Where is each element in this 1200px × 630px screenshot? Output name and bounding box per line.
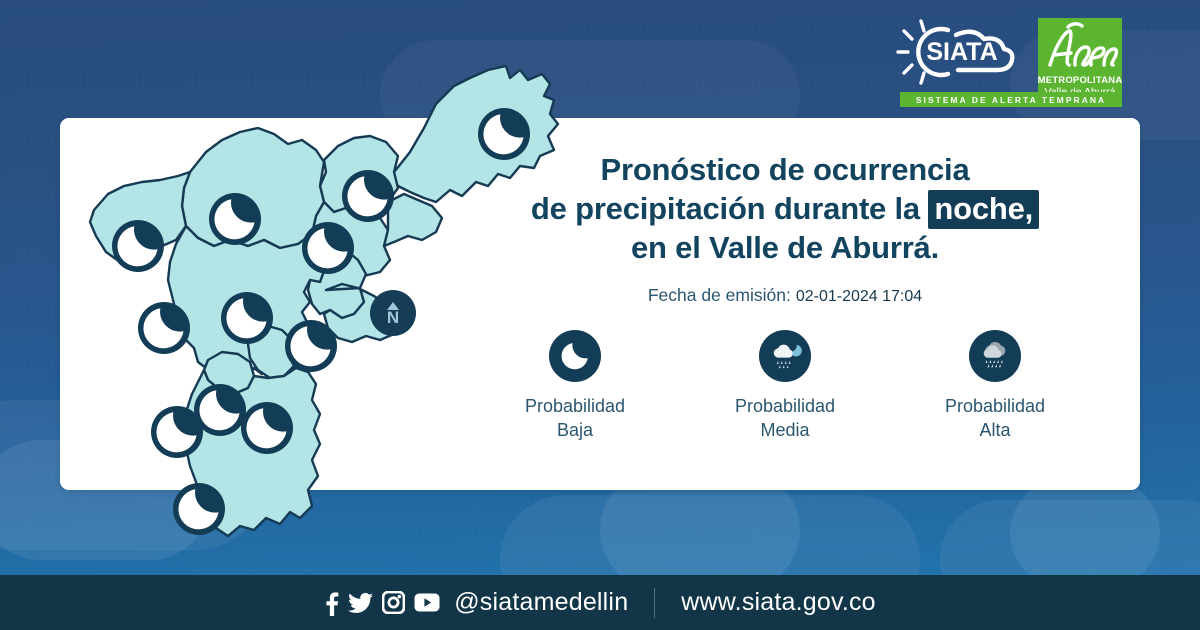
title-line-2-text: de precipitación durante la — [531, 191, 920, 226]
social-icon-group — [324, 590, 440, 616]
facebook-icon[interactable] — [324, 590, 339, 616]
legend-alta-line1: Probabilidad — [945, 395, 1045, 419]
siata-wordmark: SIATA — [926, 38, 997, 66]
legend-baja-line1: Probabilidad — [525, 395, 625, 419]
youtube-icon[interactable] — [414, 593, 440, 612]
twitter-icon[interactable] — [348, 592, 373, 614]
legend-item-media: Probabilidad Media — [695, 330, 875, 443]
legend-baja-line2: Baja — [525, 419, 625, 443]
cloud-decor-6 — [1010, 478, 1160, 588]
legend-label-baja: Probabilidad Baja — [525, 395, 625, 443]
legend-label-media: Probabilidad Media — [735, 395, 835, 443]
area-script-icon — [1038, 21, 1122, 73]
footer-bar: @siatamedellin www.siata.gov.co — [0, 575, 1200, 630]
footer-divider — [654, 588, 655, 618]
moon-icon — [558, 339, 592, 373]
siata-sun-cloud-icon: SIATA — [896, 18, 1028, 86]
legend-icon-alta — [969, 330, 1021, 382]
legend-icon-baja — [549, 330, 601, 382]
social-handle[interactable]: @siatamedellin — [454, 588, 628, 617]
logo-group: SIATA METROPOLITANA Valle de Aburrá — [896, 18, 1122, 102]
siata-tagline-text: SISTEMA DE ALERTA TEMPRANA — [916, 95, 1106, 105]
legend-alta-line2: Alta — [945, 419, 1045, 443]
siata-tagline-banner: SISTEMA DE ALERTA TEMPRANA — [900, 92, 1122, 107]
title-line-1: Pronóstico de ocurrencia — [470, 150, 1100, 189]
cloud-heavy-rain-icon — [978, 339, 1012, 373]
title-highlight-period: noche, — [928, 190, 1039, 229]
legend-item-baja: Probabilidad Baja — [485, 330, 665, 443]
area-metropolitana-logo: METROPOLITANA Valle de Aburrá — [1038, 18, 1122, 102]
siata-logo: SIATA — [896, 18, 1028, 86]
title-line-3: en el Valle de Aburrá. — [470, 228, 1100, 267]
title-line-2: de precipitación durante la noche, — [470, 189, 1100, 228]
legend-label-alta: Probabilidad Alta — [945, 395, 1045, 443]
instagram-icon[interactable] — [382, 591, 405, 614]
page-title: Pronóstico de ocurrencia de precipitació… — [470, 150, 1100, 267]
emission-date-value: 02-01-2024 17:04 — [796, 288, 922, 305]
emission-date-row: Fecha de emisión:02-01-2024 17:04 — [470, 285, 1100, 306]
cloud-moon-rain-icon — [768, 339, 802, 373]
probability-legend: Probabilidad Baja Probabilidad — [470, 330, 1100, 443]
legend-media-line1: Probabilidad — [735, 395, 835, 419]
legend-icon-media — [759, 330, 811, 382]
area-logo-line1: METROPOLITANA — [1038, 75, 1123, 86]
legend-item-alta: Probabilidad Alta — [905, 330, 1085, 443]
forecast-text-block: Pronóstico de ocurrencia de precipitació… — [470, 150, 1100, 306]
emission-date-label: Fecha de emisión: — [648, 285, 791, 305]
website-url[interactable]: www.siata.gov.co — [681, 588, 875, 617]
legend-media-line2: Media — [735, 419, 835, 443]
